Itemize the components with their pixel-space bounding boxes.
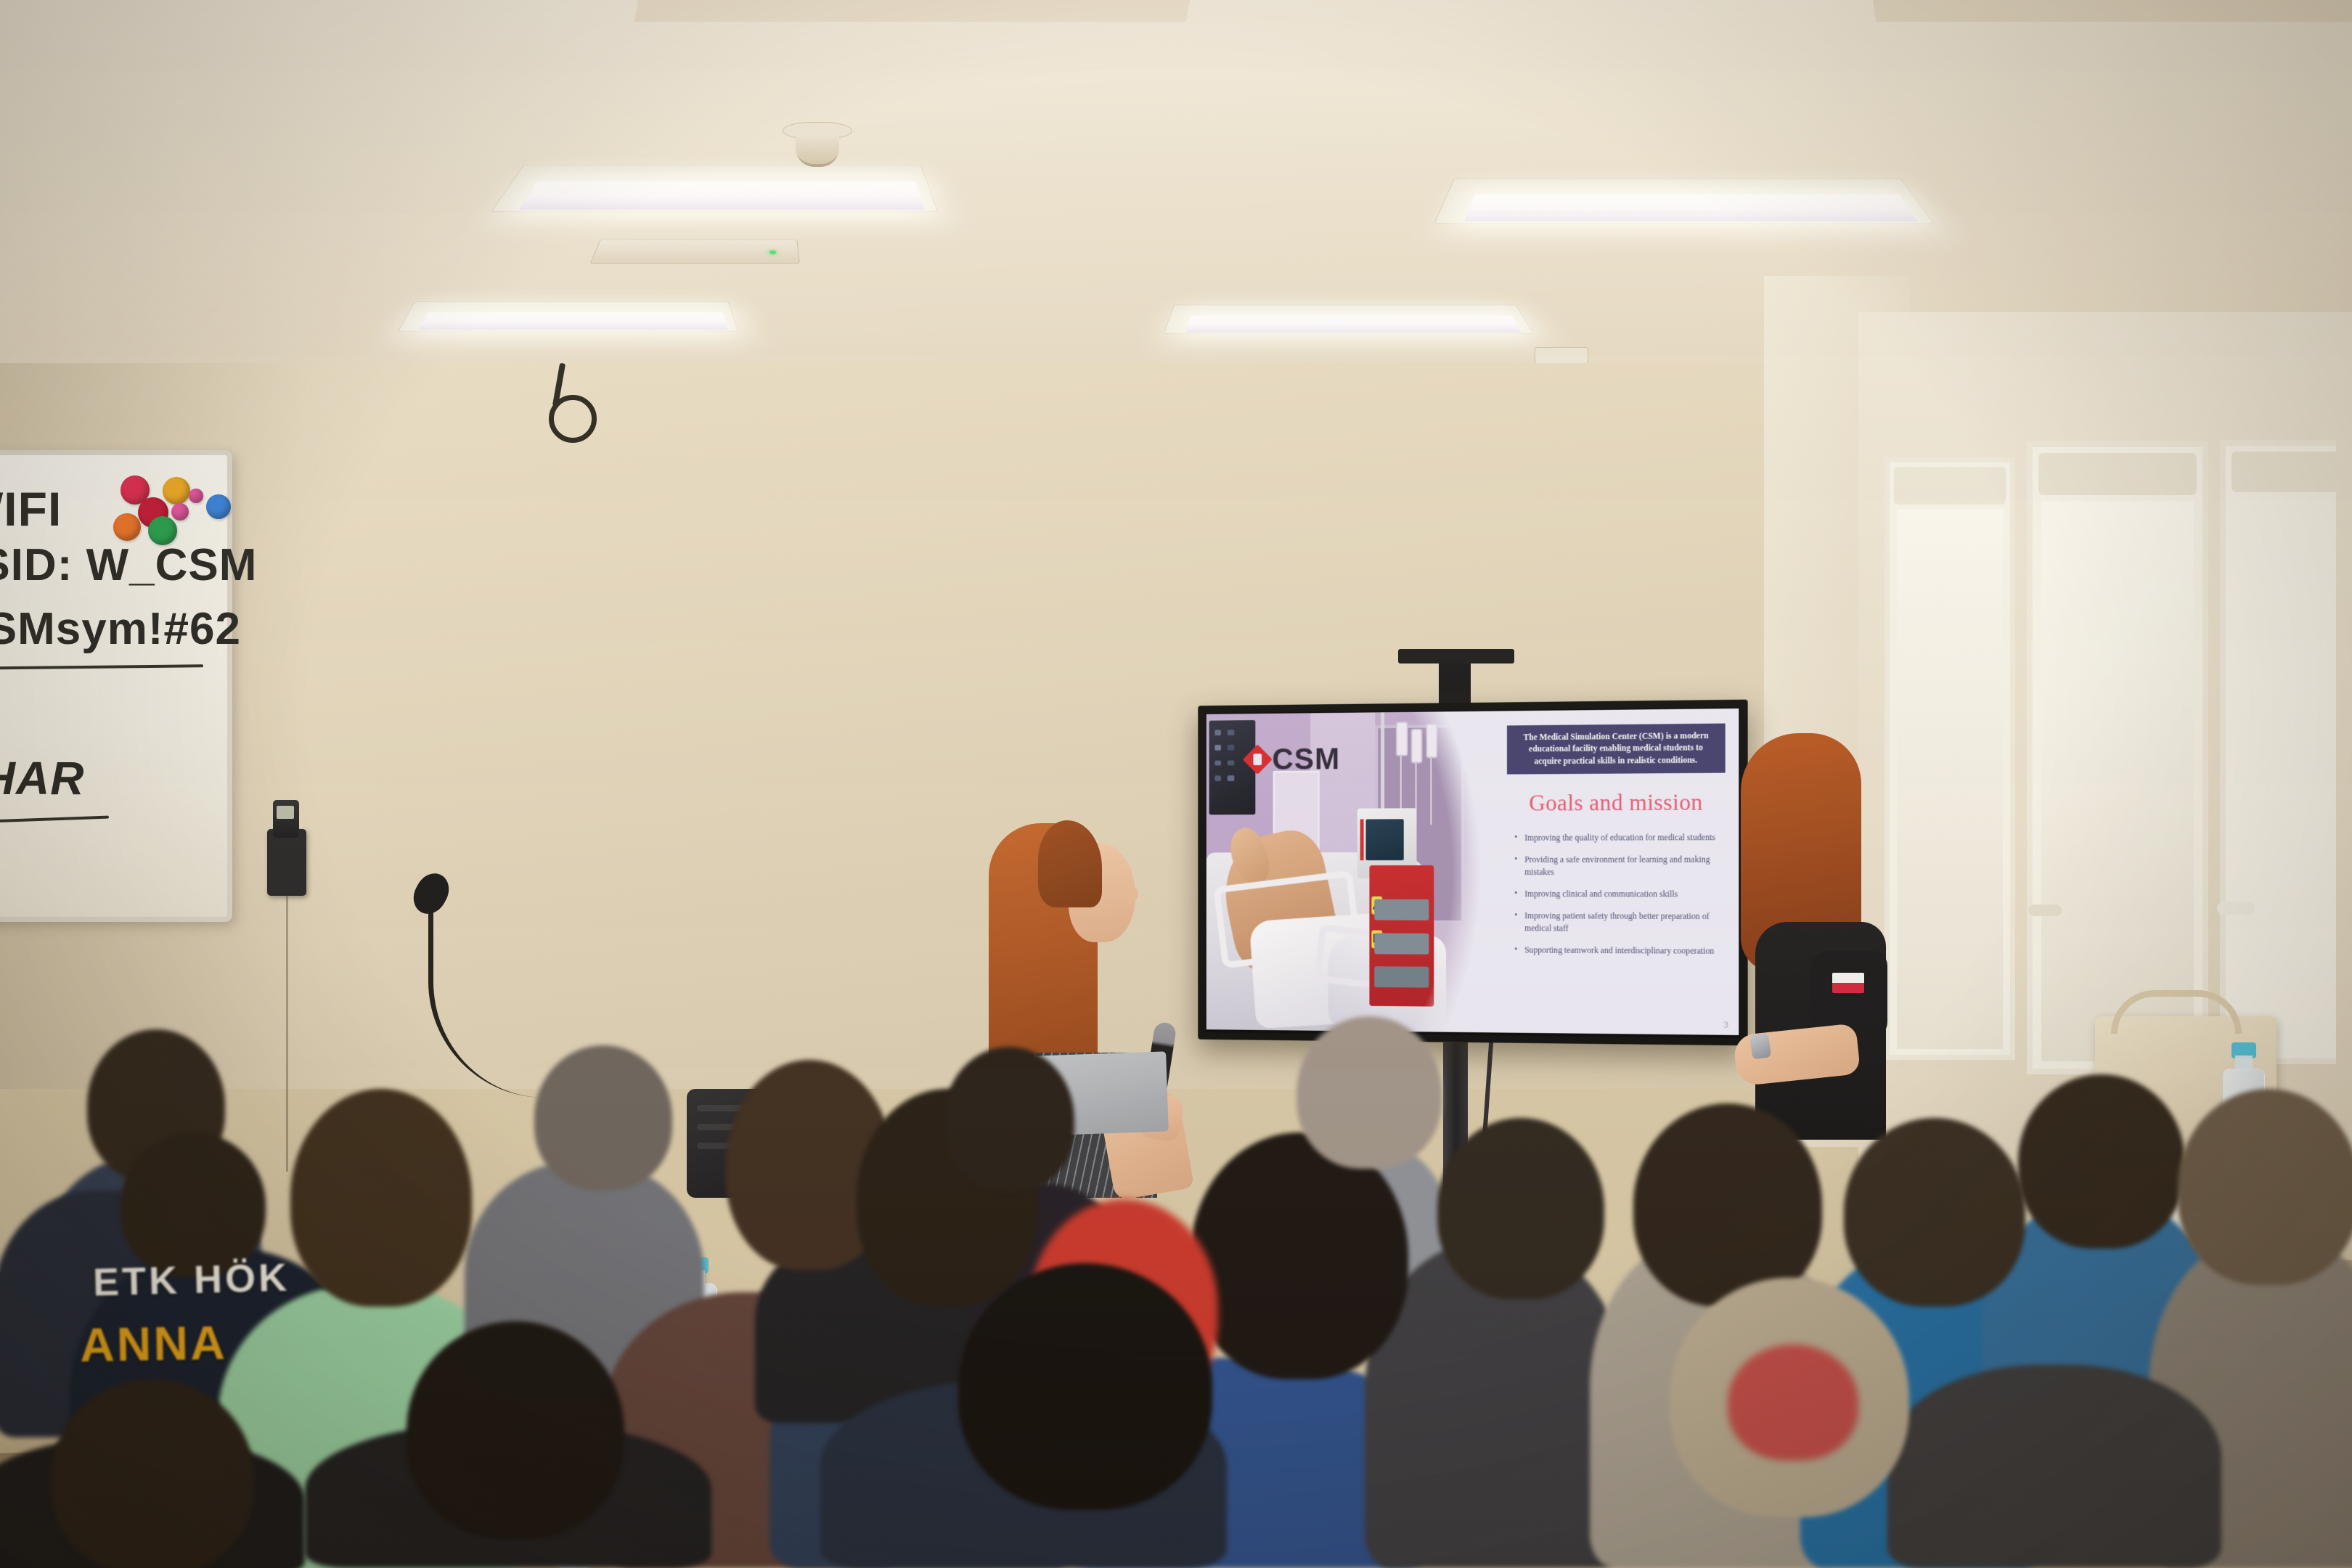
audience-member [2018,1074,2185,1249]
slide-csm-logo: CSM [1246,741,1340,776]
audience-member [1887,1365,2221,1568]
slide-bullet: Improving clinical and communication ski… [1513,889,1727,902]
slide-bullet-list: Improving the quality of education for m… [1513,832,1727,957]
standing-assistant [1723,733,1905,1140]
screen-surface: CSM [1206,709,1739,1035]
tv-mount-bracket [1398,649,1514,707]
presentation-display[interactable]: CSM [1198,700,1747,1046]
whiteboard-line-password: CSMsym!#62 [0,603,241,655]
slide-text-panel: The Medical Simulation Center (CSM) is a… [1500,709,1739,1035]
window-group [1885,436,2335,1074]
window-pane[interactable] [2220,440,2336,1064]
audience-member [1297,1016,1442,1169]
ceiling-light-fixture [1163,305,1533,334]
audience-member [407,1321,624,1539]
csm-logo-text: CSM [1272,741,1340,776]
wall-phone-icon[interactable] [267,829,306,896]
slide-bullet: Improving patient safety through better … [1513,910,1727,936]
ceiling-panel [1870,0,2352,22]
wristwatch-icon [1749,1032,1771,1059]
ceiling-panel [634,0,1195,22]
audience-member [1437,1118,1604,1299]
audience-member [51,1379,254,1568]
audience-member [1191,1132,1408,1379]
audience-member [1844,1118,2025,1307]
slide-title: Goals and mission [1506,789,1727,817]
ceiling-light-fixture [491,165,938,212]
audience-member [534,1045,672,1191]
slide: CSM [1206,709,1739,1035]
jacket-text-top: ETK HÖK [92,1254,311,1304]
wall-hook-icon [546,363,591,434]
slide-bullet: Improving the quality of education for m… [1513,832,1727,845]
whiteboard: WIFI SSID: W_CSM CSMsym!#62 OHAR [0,450,232,922]
audience-member [1633,1103,1822,1307]
phone-cord [286,896,288,1172]
ceiling-light-fixture [1434,179,1934,224]
audience-member-scrunchie [1728,1344,1858,1461]
slide-quote-box: The Medical Simulation Center (CSM) is a… [1507,724,1726,775]
ceiling-light-fixture [398,301,738,331]
csm-diamond-icon [1242,744,1272,775]
polish-flag-patch-icon [1832,973,1864,993]
whiteboard-underline [0,816,109,824]
smoke-detector-icon [783,122,852,167]
whiteboard-underline [0,664,203,669]
whiteboard-line-extra: OHAR [0,751,84,805]
slide-photo: CSM [1206,711,1500,1033]
whiteboard-line-wifi: WIFI [0,481,62,536]
audience-member [290,1089,472,1307]
window-handle[interactable] [2028,905,2062,916]
slide-photo-crash-cart: A B [1369,865,1434,1006]
audience-member [944,1047,1074,1192]
emergency-light-icon [589,240,800,264]
audience-member [2178,1089,2352,1285]
slide-bullet: Supporting teamwork and interdisciplinar… [1513,944,1727,958]
whiteboard-magnets [109,475,225,548]
conference-room-scene: WIFI SSID: W_CSM CSMsym!#62 OHAR [0,0,2352,1568]
window-handle[interactable] [2217,902,2255,915]
jacket-text-bottom: ANNA [79,1313,298,1368]
window-pane[interactable] [2027,441,2208,1074]
slide-bullet: Providing a safe environment for learnin… [1513,854,1727,878]
audience-member [958,1263,1212,1510]
